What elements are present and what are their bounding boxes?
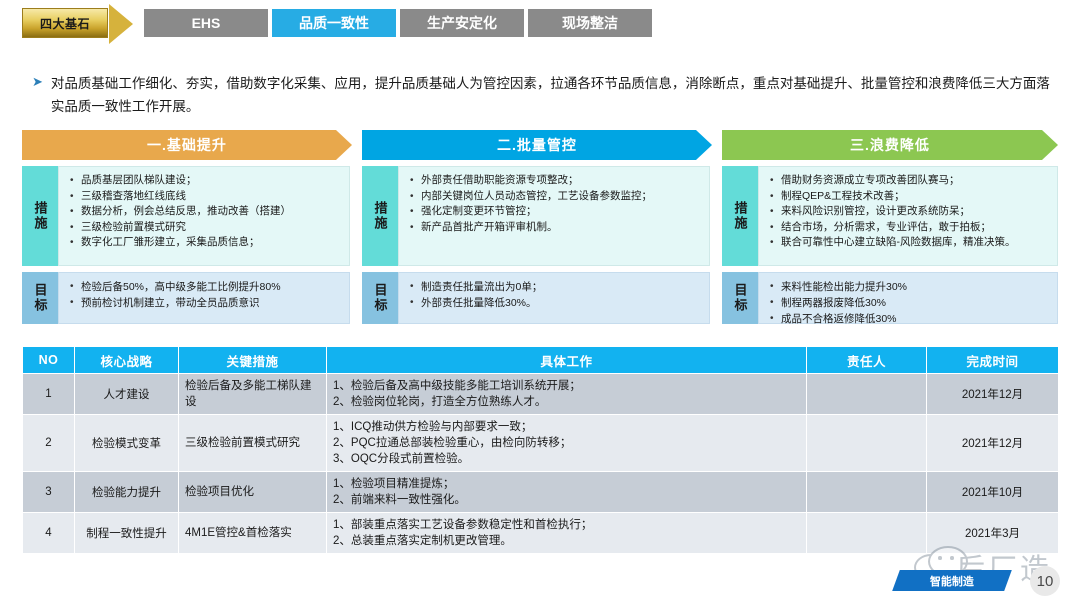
section-header-batch-control: 二.批量管控 xyxy=(362,130,712,160)
list-item: 成品不合格返修降低30% xyxy=(781,311,1049,327)
list-item: 外部责任批量降低30%。 xyxy=(421,295,701,311)
table-row: 4 制程一致性提升 4M1E管控&首检落实 1、部装重点落实工艺设备参数稳定性和… xyxy=(23,513,1059,554)
cell-owner xyxy=(807,415,927,472)
cell-owner xyxy=(807,513,927,554)
goal-tag-label: 目标 xyxy=(22,272,58,324)
list-item: 品质基层团队梯队建设； xyxy=(81,173,341,189)
nav-tab-list: EHS 品质一致性 生产安定化 现场整洁 xyxy=(144,9,652,37)
measure-list: 外部责任借助职能资源专项整改； 内部关键岗位人员动态管控，工艺设备参数监控； 强… xyxy=(401,173,705,235)
cell-time: 2021年10月 xyxy=(927,472,1059,513)
table-header-time: 完成时间 xyxy=(927,347,1059,374)
section-header-row: 一.基础提升 二.批量管控 三.浪费降低 xyxy=(22,130,1058,160)
list-item: 制造责任批量流出为0单； xyxy=(421,279,701,295)
list-item: 数字化工厂雏形建立，采集品质信息； xyxy=(81,235,341,251)
cell-measure: 检验后备及多能工梯队建设 xyxy=(179,374,327,415)
goal-list: 制造责任批量流出为0单； 外部责任批量降低30%。 xyxy=(401,279,705,311)
list-item: 借助财务资源成立专项改善团队赛马； xyxy=(781,173,1049,189)
table-row: 3 检验能力提升 检验项目优化 1、检验项目精准提炼； 2、前端来料一致性强化。… xyxy=(23,472,1059,513)
table-row: 2 检验模式变革 三级检验前置模式研究 1、ICQ推动供方检验与内部要求一致； … xyxy=(23,415,1059,472)
section-header-waste-reduction: 三.浪费降低 xyxy=(722,130,1058,160)
measure-content: 外部责任借助职能资源专项整改； 内部关键岗位人员动态管控，工艺设备参数监控； 强… xyxy=(398,166,710,266)
goal-tag-label: 目标 xyxy=(722,272,758,324)
cell-strategy: 检验模式变革 xyxy=(75,415,179,472)
table-header-measure: 关键措施 xyxy=(179,347,327,374)
goal-list: 检验后备50%，高中级多能工比例提升80% 预前检讨机制建立，带动全员品质意识 xyxy=(61,279,345,311)
nav-tab-site-cleanliness[interactable]: 现场整洁 xyxy=(528,9,652,37)
list-item: 检验后备50%，高中级多能工比例提升80% xyxy=(81,279,341,295)
list-item: 内部关键岗位人员动态管控，工艺设备参数监控； xyxy=(421,189,701,205)
cell-work: 1、检验后备及高中级技能多能工培训系统开展； 2、检验岗位轮岗，打造全方位熟练人… xyxy=(327,374,807,415)
goal-content: 制造责任批量流出为0单； 外部责任批量降低30%。 xyxy=(398,272,710,324)
cell-no: 2 xyxy=(23,415,75,472)
list-item: 数据分析，例会总结反思，推动改善（搭建） xyxy=(81,204,341,220)
panel-waste-reduction: 措施 借助财务资源成立专项改善团队赛马； 制程QEP&工程技术改善； 来料风险识… xyxy=(722,166,1058,330)
table-header-row: NO 核心战略 关键措施 具体工作 责任人 完成时间 xyxy=(23,347,1059,374)
cell-time: 2021年3月 xyxy=(927,513,1059,554)
cell-no: 1 xyxy=(23,374,75,415)
cell-work: 1、检验项目精准提炼； 2、前端来料一致性强化。 xyxy=(327,472,807,513)
cell-no: 3 xyxy=(23,472,75,513)
table-row: 1 人才建设 检验后备及多能工梯队建设 1、检验后备及高中级技能多能工培训系统开… xyxy=(23,374,1059,415)
table-header-no: NO xyxy=(23,347,75,374)
footer-badge: 智能制造 xyxy=(892,570,1012,591)
footer-badge-label: 智能制造 xyxy=(930,573,974,589)
logo-label: 四大基石 xyxy=(40,15,90,32)
list-item: 外部责任借助职能资源专项整改； xyxy=(421,173,701,189)
nav-tab-quality-consistency[interactable]: 品质一致性 xyxy=(272,9,396,37)
cell-work: 1、ICQ推动供方检验与内部要求一致； 2、PQC拉通总部装检验重心，由检向防转… xyxy=(327,415,807,472)
goal-block: 目标 检验后备50%，高中级多能工比例提升80% 预前检讨机制建立，带动全员品质… xyxy=(22,272,350,324)
cell-no: 4 xyxy=(23,513,75,554)
measure-content: 借助财务资源成立专项改善团队赛马； 制程QEP&工程技术改善； 来料风险识别管控… xyxy=(758,166,1058,266)
cell-measure: 检验项目优化 xyxy=(179,472,327,513)
cell-owner xyxy=(807,374,927,415)
table-header-owner: 责任人 xyxy=(807,347,927,374)
measure-list: 品质基层团队梯队建设； 三级稽查落地红线底线 数据分析，例会总结反思，推动改善（… xyxy=(61,173,345,251)
measure-list: 借助财务资源成立专项改善团队赛马； 制程QEP&工程技术改善； 来料风险识别管控… xyxy=(761,173,1053,251)
arrow-bullet-icon: ➤ xyxy=(32,72,43,118)
table-header-work: 具体工作 xyxy=(327,347,807,374)
table-header-strategy: 核心战略 xyxy=(75,347,179,374)
cell-measure: 三级检验前置模式研究 xyxy=(179,415,327,472)
section-header-foundation: 一.基础提升 xyxy=(22,130,352,160)
cell-strategy: 人才建设 xyxy=(75,374,179,415)
list-item: 三级稽查落地红线底线 xyxy=(81,189,341,205)
intro-paragraph: ➤ 对品质基础工作细化、夯实，借助数字化采集、应用，提升品质基础人为管控因素，拉… xyxy=(32,72,1052,118)
page-number: 10 xyxy=(1030,566,1060,596)
panel-foundation: 措施 品质基层团队梯队建设； 三级稽查落地红线底线 数据分析，例会总结反思，推动… xyxy=(22,166,350,330)
list-item: 联合可靠性中心建立缺陷-风险数据库，精准决策。 xyxy=(781,235,1049,251)
goal-block: 目标 制造责任批量流出为0单； 外部责任批量降低30%。 xyxy=(362,272,710,324)
measure-block: 措施 品质基层团队梯队建设； 三级稽查落地红线底线 数据分析，例会总结反思，推动… xyxy=(22,166,350,266)
measure-block: 措施 外部责任借助职能资源专项整改； 内部关键岗位人员动态管控，工艺设备参数监控… xyxy=(362,166,710,266)
goal-block: 目标 来料性能检出能力提升30% 制程两器报废降低30% 成品不合格返修降低30… xyxy=(722,272,1058,324)
cell-measure: 4M1E管控&首检落实 xyxy=(179,513,327,554)
list-item: 预前检讨机制建立，带动全员品质意识 xyxy=(81,295,341,311)
measure-tag-label: 措施 xyxy=(722,166,758,266)
nav-tab-ehs[interactable]: EHS xyxy=(144,9,268,37)
measure-tag-label: 措施 xyxy=(22,166,58,266)
measure-block: 措施 借助财务资源成立专项改善团队赛马； 制程QEP&工程技术改善； 来料风险识… xyxy=(722,166,1058,266)
list-item: 来料性能检出能力提升30% xyxy=(781,279,1049,295)
nav-tab-production-stability[interactable]: 生产安定化 xyxy=(400,9,524,37)
cell-owner xyxy=(807,472,927,513)
cell-time: 2021年12月 xyxy=(927,374,1059,415)
list-item: 三级检验前置模式研究 xyxy=(81,220,341,236)
cell-work: 1、部装重点落实工艺设备参数稳定性和首检执行； 2、总装重点落实定制机更改管理。 xyxy=(327,513,807,554)
list-item: 来料风险识别管控，设计更改系统防呆； xyxy=(781,204,1049,220)
list-item: 制程QEP&工程技术改善； xyxy=(781,189,1049,205)
action-plan-table: NO 核心战略 关键措施 具体工作 责任人 完成时间 1 人才建设 检验后备及多… xyxy=(22,346,1059,554)
list-item: 结合市场，分析需求，专业评估，敢于拍板； xyxy=(781,220,1049,236)
list-item: 强化定制变更环节管控； xyxy=(421,204,701,220)
cell-strategy: 检验能力提升 xyxy=(75,472,179,513)
goal-content: 检验后备50%，高中级多能工比例提升80% 预前检讨机制建立，带动全员品质意识 xyxy=(58,272,350,324)
panel-batch-control: 措施 外部责任借助职能资源专项整改； 内部关键岗位人员动态管控，工艺设备参数监控… xyxy=(362,166,710,330)
list-item: 制程两器报废降低30% xyxy=(781,295,1049,311)
cell-strategy: 制程一致性提升 xyxy=(75,513,179,554)
goal-list: 来料性能检出能力提升30% 制程两器报废降低30% 成品不合格返修降低30% xyxy=(761,279,1053,327)
goal-content: 来料性能检出能力提升30% 制程两器报废降低30% 成品不合格返修降低30% xyxy=(758,272,1058,324)
measure-tag-label: 措施 xyxy=(362,166,398,266)
cell-time: 2021年12月 xyxy=(927,415,1059,472)
goal-tag-label: 目标 xyxy=(362,272,398,324)
top-navigation: 四大基石 EHS 品质一致性 生产安定化 现场整洁 xyxy=(22,8,652,38)
logo-arrow-badge: 四大基石 xyxy=(22,8,108,38)
list-item: 新产品首批产开箱评审机制。 xyxy=(421,220,701,236)
measure-content: 品质基层团队梯队建设； 三级稽查落地红线底线 数据分析，例会总结反思，推动改善（… xyxy=(58,166,350,266)
intro-text: 对品质基础工作细化、夯实，借助数字化采集、应用，提升品质基础人为管控因素，拉通各… xyxy=(51,72,1052,118)
